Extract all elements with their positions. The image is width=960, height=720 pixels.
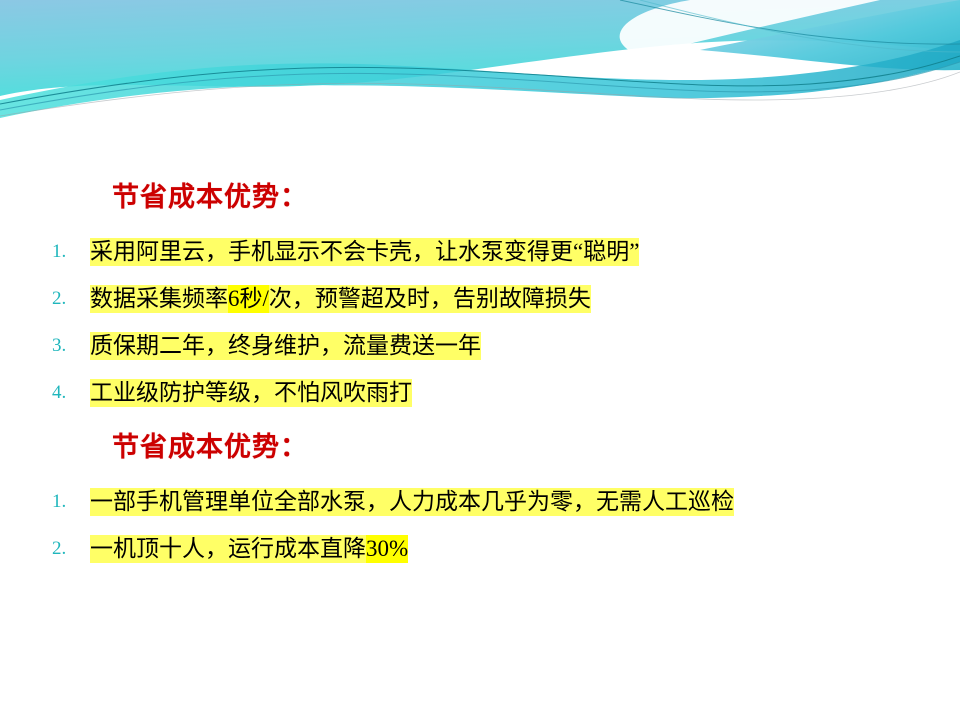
- list-item-text: 质保期二年，终身维护，流量费送一年: [90, 330, 481, 361]
- list-item-text: 工业级防护等级，不怕风吹雨打: [90, 377, 412, 408]
- slide-content: 节省成本优势： 1. 采用阿里云，手机显示不会卡壳，让水泵变得更“聪明” 2. …: [0, 0, 960, 720]
- highlighted-text-strong: 6秒/: [228, 285, 269, 313]
- section-heading-1: 节省成本优势：: [112, 175, 308, 214]
- highlighted-text: 采用阿里云，手机显示不会卡壳，让水泵变得更“聪明”: [90, 238, 639, 266]
- list-item-text: 采用阿里云，手机显示不会卡壳，让水泵变得更“聪明”: [90, 236, 639, 267]
- list-item: 4. 工业级防护等级，不怕风吹雨打: [0, 369, 960, 416]
- highlighted-text-strong: 30%: [366, 535, 408, 563]
- slide-canvas: 节省成本优势： 1. 采用阿里云，手机显示不会卡壳，让水泵变得更“聪明” 2. …: [0, 0, 960, 720]
- highlighted-text: 次，预警超及时，告别故障损失: [269, 285, 591, 313]
- list-item-text: 一机顶十人，运行成本直降30%: [90, 533, 408, 564]
- list-item: 2. 一机顶十人，运行成本直降30%: [0, 525, 960, 572]
- bullet-list-2: 1. 一部手机管理单位全部水泵，人力成本几乎为零，无需人工巡检 2. 一机顶十人…: [0, 478, 960, 572]
- list-item-number: 3.: [52, 336, 82, 355]
- list-item: 3. 质保期二年，终身维护，流量费送一年: [0, 322, 960, 369]
- list-item-text: 数据采集频率6秒/次，预警超及时，告别故障损失: [90, 283, 591, 314]
- list-item-number: 2.: [52, 539, 82, 558]
- highlighted-text: 数据采集频率: [90, 285, 228, 313]
- list-item-number: 1.: [52, 242, 82, 261]
- bullet-list-1: 1. 采用阿里云，手机显示不会卡壳，让水泵变得更“聪明” 2. 数据采集频率6秒…: [0, 228, 960, 416]
- list-item-number: 2.: [52, 289, 82, 308]
- highlighted-text: 一部手机管理单位全部水泵，人力成本几乎为零，无需人工巡检: [90, 488, 734, 516]
- highlighted-text: 质保期二年，终身维护，流量费送一年: [90, 332, 481, 360]
- list-item: 1. 一部手机管理单位全部水泵，人力成本几乎为零，无需人工巡检: [0, 478, 960, 525]
- list-item-number: 4.: [52, 383, 82, 402]
- list-item-number: 1.: [52, 492, 82, 511]
- highlighted-text: 一机顶十人，运行成本直降: [90, 535, 366, 563]
- list-item-text: 一部手机管理单位全部水泵，人力成本几乎为零，无需人工巡检: [90, 486, 734, 517]
- section-heading-2: 节省成本优势：: [112, 425, 308, 464]
- list-item: 2. 数据采集频率6秒/次，预警超及时，告别故障损失: [0, 275, 960, 322]
- highlighted-text: 工业级防护等级，不怕风吹雨打: [90, 379, 412, 407]
- list-item: 1. 采用阿里云，手机显示不会卡壳，让水泵变得更“聪明”: [0, 228, 960, 275]
